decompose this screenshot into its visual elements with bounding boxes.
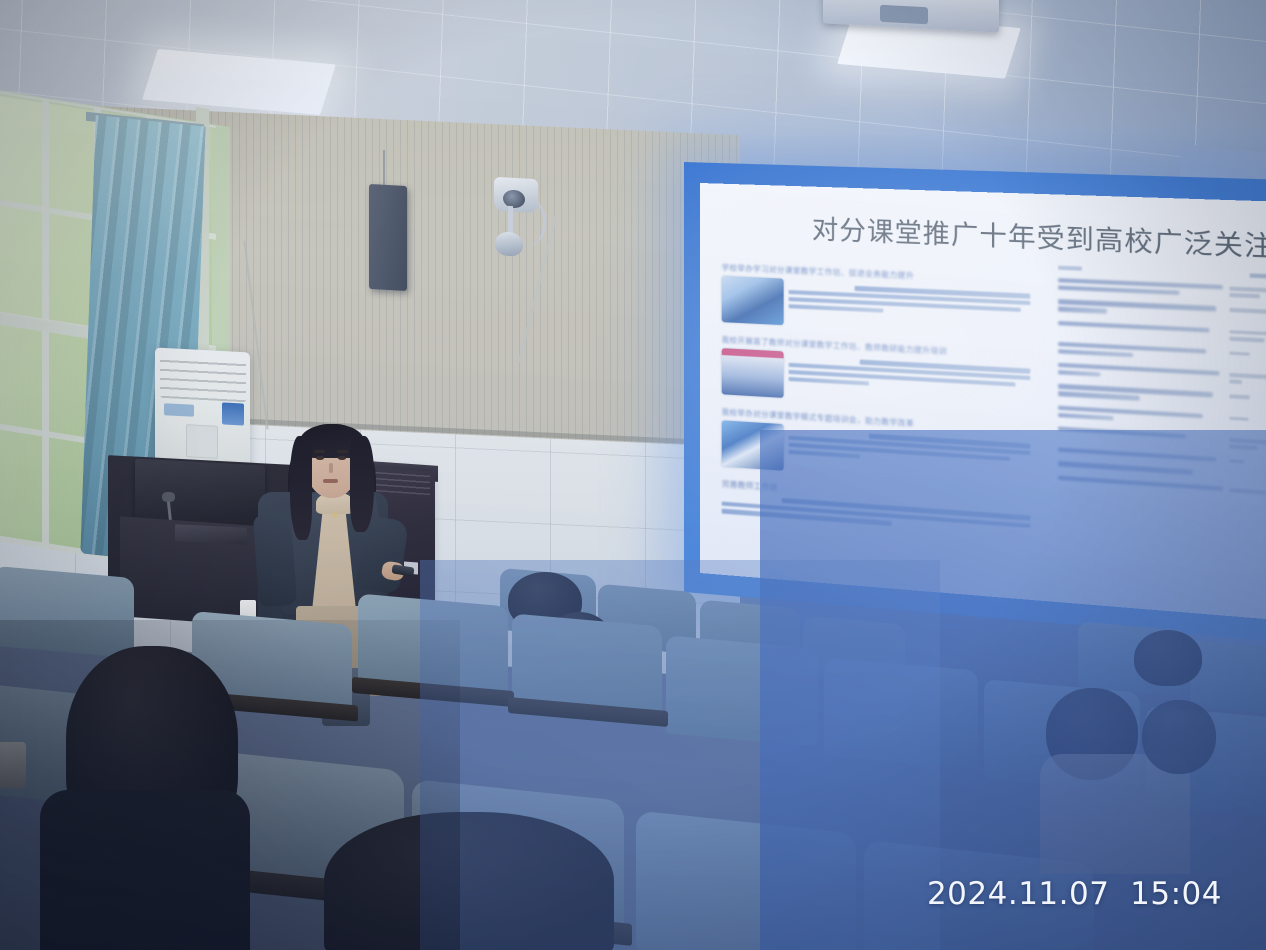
seat[interactable]	[666, 635, 818, 746]
slide-news-item: 完善教师工作坊	[722, 479, 1031, 536]
audience-body	[40, 790, 250, 950]
camera-timestamp: 2024.11.07 15:04	[927, 876, 1222, 912]
speaker-cable	[383, 150, 385, 188]
presenter-eye-right	[338, 456, 346, 460]
lecture-hall-photo: 对分课堂推广十年受到高校广泛关注 学校举办学习对分课堂教学工作坊、促进业务能力提…	[0, 0, 1266, 950]
seat[interactable]	[0, 566, 134, 658]
presentation-thumbnail	[722, 420, 784, 470]
seat[interactable]	[1190, 640, 1266, 714]
list-item	[1058, 341, 1266, 364]
air-conditioner-logo	[164, 403, 194, 417]
group-photo-thumbnail	[722, 348, 784, 398]
lecture-hall-thumbnail	[722, 276, 784, 325]
slide-news-body	[789, 279, 1031, 337]
audience-head	[1142, 700, 1216, 774]
slide-right-header	[1058, 266, 1266, 279]
presenter-nose	[329, 463, 333, 473]
audience-head	[1134, 630, 1202, 686]
slide-left-column: 学校举办学习对分课堂教学工作坊、促进业务能力提升 我校开展首了教师对分课堂教学工…	[722, 262, 1031, 548]
air-conditioner-panel[interactable]	[186, 424, 218, 459]
presenter-hair-left	[290, 436, 312, 540]
presenter-arm-left	[253, 513, 297, 607]
list-item	[1058, 384, 1266, 408]
list-item	[1058, 299, 1266, 321]
presenter-brow-right	[337, 450, 348, 453]
thermos-cup	[0, 742, 26, 788]
projection-screen-surface[interactable]: 对分课堂推广十年受到高校广泛关注 学校举办学习对分课堂教学工作坊、促进业务能力提…	[700, 183, 1266, 621]
slide-news-body	[789, 352, 1031, 413]
presenter-mouth	[323, 479, 338, 483]
seat[interactable]	[636, 810, 856, 950]
slide-right-column	[1058, 266, 1266, 505]
list-item	[1058, 321, 1266, 343]
presenter-eye-left	[316, 456, 324, 460]
seat[interactable]	[824, 657, 978, 768]
slide-news-item: 学校举办学习对分课堂教学工作坊、促进业务能力提升	[722, 262, 1031, 337]
list-item	[1058, 363, 1266, 387]
list-item	[1058, 405, 1266, 430]
list-item	[1058, 427, 1266, 452]
list-item	[1058, 476, 1266, 496]
air-conditioner-vents	[160, 354, 246, 403]
presenter-hair-right	[350, 436, 374, 532]
presenter-brow-left	[314, 450, 325, 453]
slide-news-item: 我校举办对分课堂教学模式专题培训会，助力教学改革	[722, 406, 1031, 487]
list-item	[1058, 278, 1266, 300]
camera-mount	[495, 231, 523, 256]
air-conditioner-badge	[222, 402, 244, 425]
audience-head	[324, 812, 614, 950]
microphone-icon	[162, 492, 175, 502]
slide-news-item: 我校开展首了教师对分课堂教学工作坊、教师教研能力提升培训	[722, 334, 1031, 412]
wall-speaker-icon	[369, 184, 407, 291]
presenter-necklace	[332, 512, 338, 518]
slide-title: 对分课堂推广十年受到高校广泛关注	[812, 209, 1266, 265]
